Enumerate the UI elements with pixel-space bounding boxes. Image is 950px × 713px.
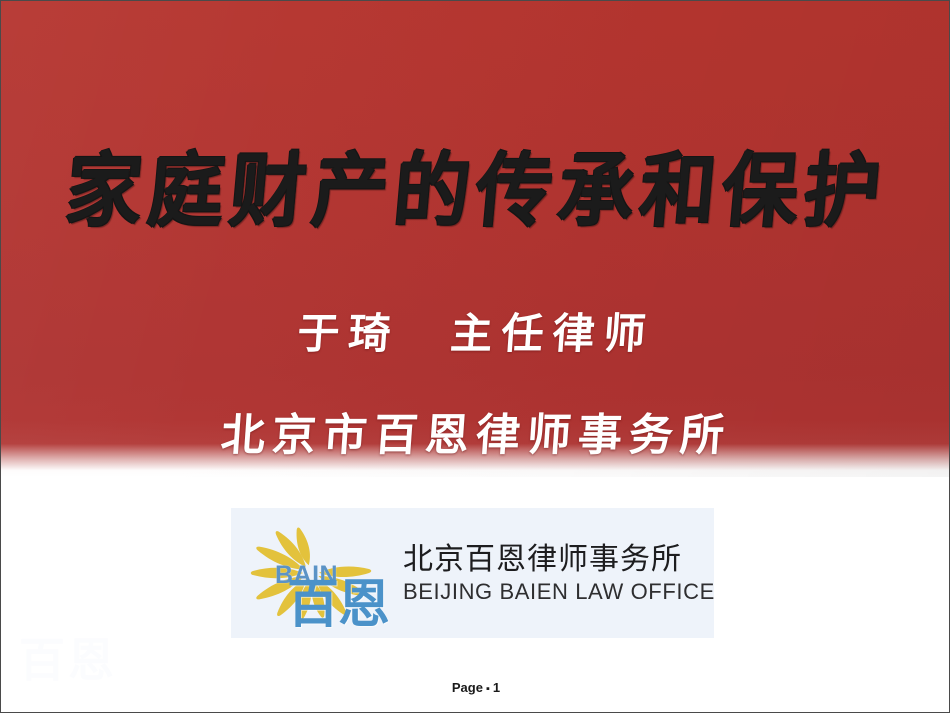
logo-name-cn: 北京百恩律师事务所 [403, 542, 715, 578]
logo-acronym-cn: 百恩 [287, 579, 389, 631]
presentation-slide: 家庭财产的传承和保护 于琦 主任律师 北京市百恩律师事务所 百恩 [0, 0, 950, 713]
firm-logo-panel: BAIN 百恩 北京百恩律师事务所 BEIJING BAIEN LAW OFFI… [231, 508, 714, 638]
presenter-name-line: 于琦 主任律师 [0, 306, 950, 362]
footer-separator-icon: ▪ [483, 683, 493, 695]
baien-logo-mark: BAIN 百恩 [239, 510, 389, 636]
slide-title: 家庭财产的传承和保护 [0, 141, 950, 241]
logo-wordmark: 北京百恩律师事务所 BEIJING BAIEN LAW OFFICE [403, 542, 715, 605]
logo-name-en: BEIJING BAIEN LAW OFFICE [403, 578, 715, 605]
slide-footer: Page▪1 [1, 680, 950, 695]
footer-page-label: Page [452, 680, 483, 695]
firm-name-line: 北京市百恩律师事务所 [0, 407, 950, 465]
footer-page-number: 1 [493, 680, 500, 695]
